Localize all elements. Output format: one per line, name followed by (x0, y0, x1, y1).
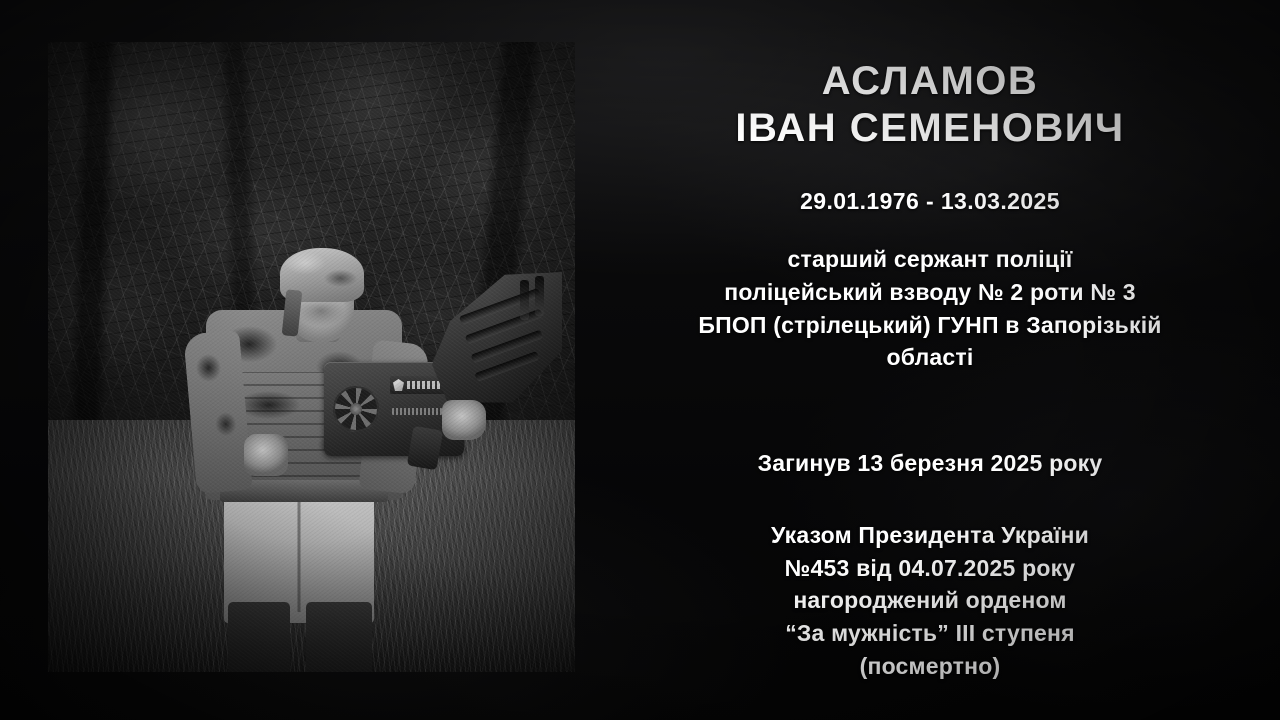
rank-unit-line: старший сержант поліції (698, 243, 1161, 276)
award-decree-block: Указом Президента України №453 від 04.07… (771, 519, 1089, 682)
soldier-hand-foregrip (442, 400, 486, 440)
award-line: №453 від 04.07.2025 року (771, 552, 1089, 585)
gun-brand-badge (390, 376, 446, 394)
gun-groove (535, 276, 544, 316)
soldier-photograph (48, 42, 575, 672)
gun-fan-icon (333, 386, 379, 432)
gun-pistol-grip (407, 426, 443, 471)
life-dates: 29.01.1976 - 13.03.2025 (800, 188, 1060, 215)
rank-unit-line: БПОП (стрілецький) ГУНП в Запорізькій (698, 309, 1161, 342)
soldier-hand-on-grip (244, 434, 288, 476)
rank-unit-line: поліцейський взводу № 2 роти № 3 (698, 276, 1161, 309)
award-line: Указом Президента України (771, 519, 1089, 552)
soldier-figure (48, 42, 575, 672)
gun-groove (520, 280, 529, 320)
rank-unit-block: старший сержант поліції поліцейський взв… (698, 243, 1161, 374)
surname: АСЛАМОВ (735, 58, 1124, 105)
gun-brand-mark-icon (393, 379, 404, 391)
soldier-boot-left (228, 602, 290, 672)
death-date-line: Загинув 13 березня 2025 року (758, 450, 1103, 477)
gun-label-strip (392, 408, 442, 415)
award-line: нагороджений орденом (771, 584, 1089, 617)
award-line: (посмертно) (771, 650, 1089, 683)
memorial-card: АСЛАМОВ ІВАН СЕМЕНОВИЧ 29.01.1976 - 13.0… (0, 0, 1280, 720)
given-patronymic: ІВАН СЕМЕНОВИЧ (735, 105, 1124, 152)
soldier-boot-right (306, 602, 372, 672)
rank-unit-line: області (698, 341, 1161, 374)
award-line: “За мужність” III ступеня (771, 617, 1089, 650)
anti-drone-gun (324, 268, 560, 464)
memorial-text-column: АСЛАМОВ ІВАН СЕМЕНОВИЧ 29.01.1976 - 13.0… (610, 0, 1250, 720)
name-block: АСЛАМОВ ІВАН СЕМЕНОВИЧ (735, 58, 1124, 152)
